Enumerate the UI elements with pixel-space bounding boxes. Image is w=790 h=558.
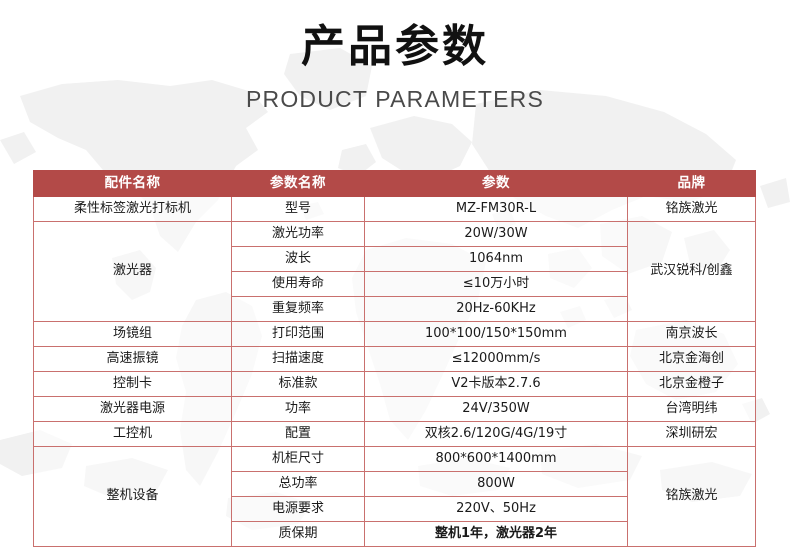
table-row: 场镜组打印范围100*100/150*150mm南京波长 bbox=[34, 322, 756, 347]
cell-param-value: 24V/350W bbox=[365, 397, 628, 422]
cell-param-value: ≤10万小时 bbox=[365, 272, 628, 297]
table-row: 激光器激光功率20W/30W武汉锐科/创鑫 bbox=[34, 222, 756, 247]
cell-part-name: 激光器电源 bbox=[34, 397, 232, 422]
column-header-param-name: 参数名称 bbox=[232, 171, 365, 197]
cell-param-value: 220V、50Hz bbox=[365, 497, 628, 522]
cell-param-name: 电源要求 bbox=[232, 497, 365, 522]
cell-param-value: 整机1年，激光器2年 bbox=[365, 522, 628, 547]
cell-brand: 北京金橙子 bbox=[628, 372, 756, 397]
product-parameters-table-wrap: 配件名称 参数名称 参数 品牌 柔性标签激光打标机型号MZ-FM30R-L铭族激… bbox=[33, 170, 755, 547]
page-header: 产品参数 PRODUCT PARAMETERS bbox=[0, 0, 790, 112]
column-header-part-name: 配件名称 bbox=[34, 171, 232, 197]
cell-part-name: 柔性标签激光打标机 bbox=[34, 197, 232, 222]
cell-part-name: 控制卡 bbox=[34, 372, 232, 397]
cell-brand: 铭族激光 bbox=[628, 197, 756, 222]
table-header-row: 配件名称 参数名称 参数 品牌 bbox=[34, 171, 756, 197]
cell-param-name: 机柜尺寸 bbox=[232, 447, 365, 472]
cell-param-value: 1064nm bbox=[365, 247, 628, 272]
cell-param-name: 标准款 bbox=[232, 372, 365, 397]
cell-param-name: 质保期 bbox=[232, 522, 365, 547]
table-head: 配件名称 参数名称 参数 品牌 bbox=[34, 171, 756, 197]
cell-part-name: 激光器 bbox=[34, 222, 232, 322]
cell-part-name: 整机设备 bbox=[34, 447, 232, 547]
table-row: 工控机配置双核2.6/120G/4G/19寸深圳研宏 bbox=[34, 422, 756, 447]
product-parameters-table: 配件名称 参数名称 参数 品牌 柔性标签激光打标机型号MZ-FM30R-L铭族激… bbox=[33, 170, 756, 547]
cell-param-name: 波长 bbox=[232, 247, 365, 272]
cell-param-value: V2卡版本2.7.6 bbox=[365, 372, 628, 397]
cell-param-name: 激光功率 bbox=[232, 222, 365, 247]
cell-part-name: 工控机 bbox=[34, 422, 232, 447]
table-row: 控制卡标准款V2卡版本2.7.6北京金橙子 bbox=[34, 372, 756, 397]
cell-param-name: 打印范围 bbox=[232, 322, 365, 347]
table-row: 高速振镜扫描速度≤12000mm/s北京金海创 bbox=[34, 347, 756, 372]
table-row: 激光器电源功率24V/350W台湾明纬 bbox=[34, 397, 756, 422]
cell-param-name: 型号 bbox=[232, 197, 365, 222]
cell-param-value: 800*600*1400mm bbox=[365, 447, 628, 472]
table-row: 整机设备机柜尺寸800*600*1400mm铭族激光 bbox=[34, 447, 756, 472]
cell-param-value: ≤12000mm/s bbox=[365, 347, 628, 372]
cell-param-name: 使用寿命 bbox=[232, 272, 365, 297]
cell-param-name: 重复频率 bbox=[232, 297, 365, 322]
cell-param-value: 100*100/150*150mm bbox=[365, 322, 628, 347]
cell-brand: 武汉锐科/创鑫 bbox=[628, 222, 756, 322]
column-header-param-value: 参数 bbox=[365, 171, 628, 197]
table-row: 柔性标签激光打标机型号MZ-FM30R-L铭族激光 bbox=[34, 197, 756, 222]
cell-brand: 北京金海创 bbox=[628, 347, 756, 372]
cell-param-name: 扫描速度 bbox=[232, 347, 365, 372]
cell-brand: 台湾明纬 bbox=[628, 397, 756, 422]
table-body: 柔性标签激光打标机型号MZ-FM30R-L铭族激光激光器激光功率20W/30W武… bbox=[34, 197, 756, 547]
cell-param-value: MZ-FM30R-L bbox=[365, 197, 628, 222]
cell-part-name: 场镜组 bbox=[34, 322, 232, 347]
cell-param-value: 双核2.6/120G/4G/19寸 bbox=[365, 422, 628, 447]
column-header-brand: 品牌 bbox=[628, 171, 756, 197]
cell-param-name: 总功率 bbox=[232, 472, 365, 497]
page-title-en: PRODUCT PARAMETERS bbox=[0, 87, 790, 112]
cell-param-value: 20Hz-60KHz bbox=[365, 297, 628, 322]
cell-param-value: 20W/30W bbox=[365, 222, 628, 247]
cell-param-name: 功率 bbox=[232, 397, 365, 422]
page-title-cn: 产品参数 bbox=[0, 22, 790, 73]
cell-param-name: 配置 bbox=[232, 422, 365, 447]
cell-brand: 铭族激光 bbox=[628, 447, 756, 547]
cell-part-name: 高速振镜 bbox=[34, 347, 232, 372]
cell-brand: 南京波长 bbox=[628, 322, 756, 347]
cell-param-value: 800W bbox=[365, 472, 628, 497]
cell-brand: 深圳研宏 bbox=[628, 422, 756, 447]
